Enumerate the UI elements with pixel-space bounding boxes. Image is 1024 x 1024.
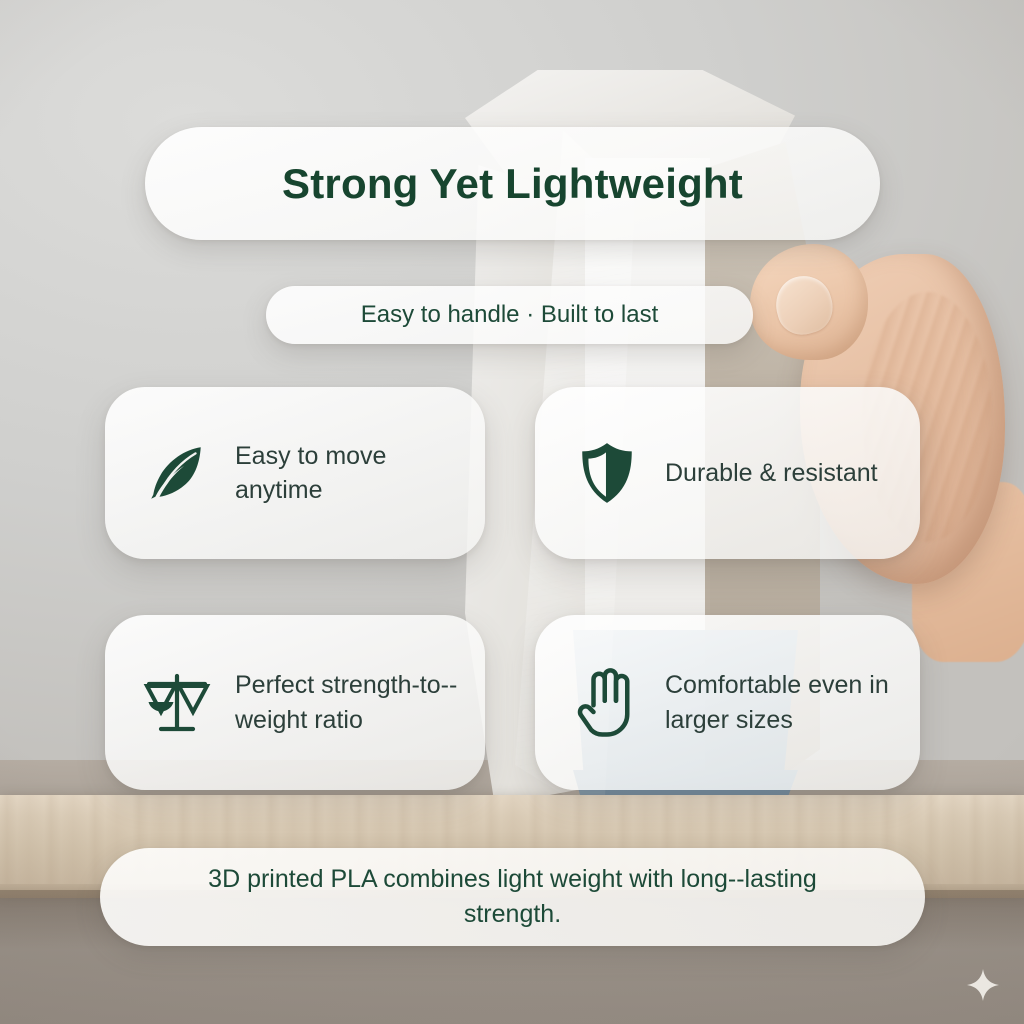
page-title: Strong Yet Lightweight (282, 160, 743, 208)
feather-icon (141, 437, 213, 509)
feature-card-comfortable[interactable]: Comfortable even in larger sizes (535, 615, 920, 790)
page-subtitle: Easy to handle · Built to last (361, 301, 659, 329)
feature-card-easy-to-move[interactable]: Easy to move anytime (105, 387, 485, 559)
hand-icon (571, 667, 643, 739)
shield-icon (571, 437, 643, 509)
sparkle-icon (966, 968, 1000, 1002)
thumb (750, 244, 868, 360)
title-banner: Strong Yet Lightweight (145, 127, 880, 240)
subtitle-banner: Easy to handle · Built to last (266, 286, 753, 344)
feature-label: Comfortable even in larger sizes (665, 668, 894, 737)
infographic-canvas: Strong Yet Lightweight Easy to handle · … (0, 0, 1024, 1024)
feature-label: Easy to move anytime (235, 439, 459, 508)
scales-icon (141, 667, 213, 739)
footer-caption-banner: 3D printed PLA combines light weight wit… (100, 848, 925, 946)
feature-label: Perfect strength-to--weight ratio (235, 668, 459, 737)
feature-label: Durable & resistant (665, 456, 878, 491)
thumbnail (769, 269, 839, 340)
footer-caption: 3D printed PLA combines light weight wit… (163, 862, 863, 933)
feature-card-durable[interactable]: Durable & resistant (535, 387, 920, 559)
feature-card-strength-ratio[interactable]: Perfect strength-to--weight ratio (105, 615, 485, 790)
